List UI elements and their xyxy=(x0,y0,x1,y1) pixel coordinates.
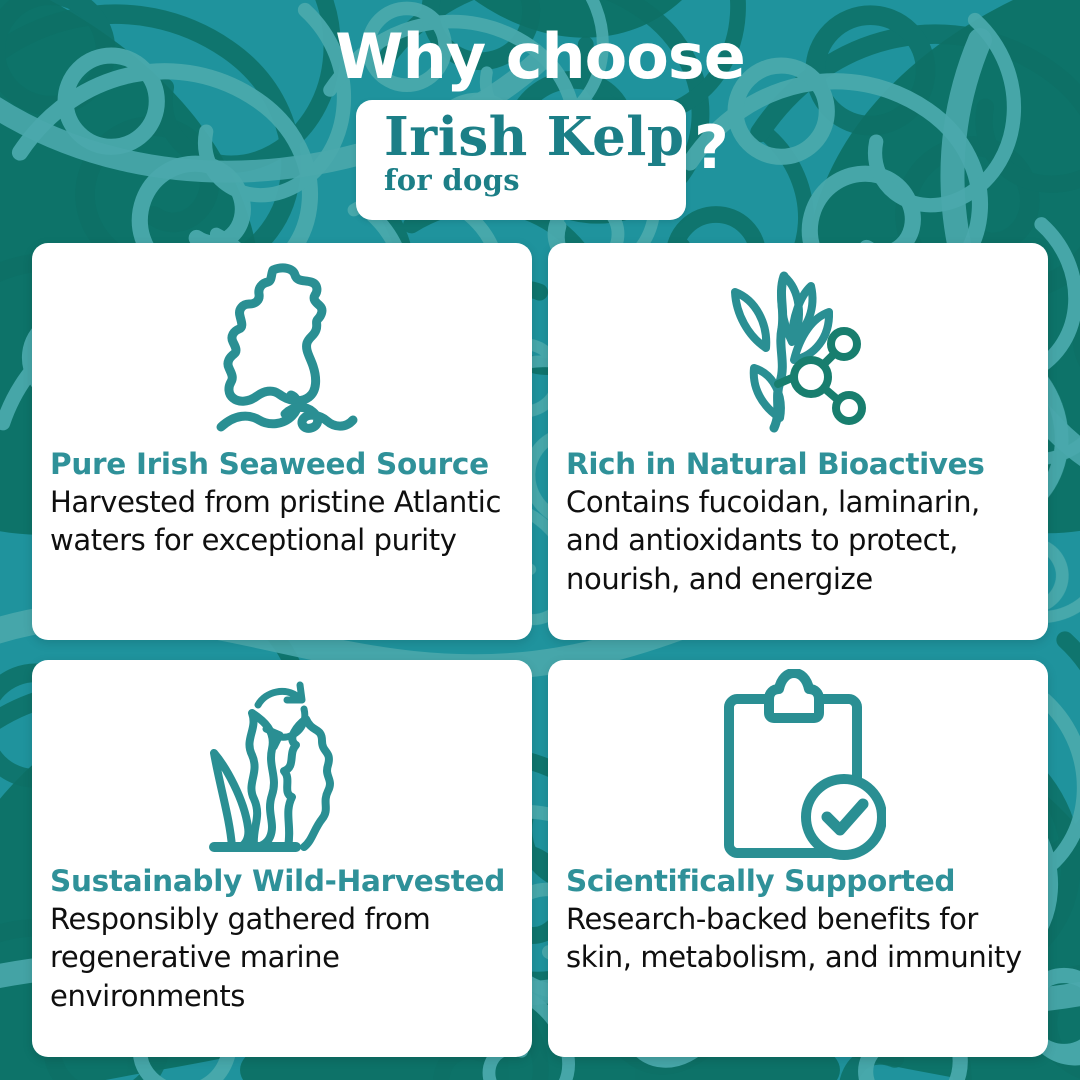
ireland-map-waves-icon xyxy=(32,243,532,448)
brand-name: Irish Kelp xyxy=(384,110,686,164)
card-text: Rich in Natural Bioactives Contains fuco… xyxy=(548,448,1048,598)
benefit-card: Sustainably Wild-Harvested Responsibly g… xyxy=(32,660,532,1057)
question-mark: ? xyxy=(694,118,729,178)
card-title: Sustainably Wild-Harvested xyxy=(50,865,514,898)
brand-subtitle: for dogs xyxy=(384,165,686,197)
card-title: Scientifically Supported xyxy=(566,865,1030,898)
card-text: Sustainably Wild-Harvested Responsibly g… xyxy=(32,865,532,1015)
benefit-card-grid: Pure Irish Seaweed Source Harvested from… xyxy=(32,243,1048,1057)
header: Why choose Irish Kelp for dogs ? xyxy=(0,0,1080,240)
benefit-card: Pure Irish Seaweed Source Harvested from… xyxy=(32,243,532,640)
card-title: Pure Irish Seaweed Source xyxy=(50,448,514,481)
page-title: Why choose xyxy=(0,26,1080,88)
kelp-recycle-icon xyxy=(32,660,532,865)
card-text: Scientifically Supported Research-backed… xyxy=(548,865,1048,977)
benefit-card: Rich in Natural Bioactives Contains fuco… xyxy=(548,243,1048,640)
card-title: Rich in Natural Bioactives xyxy=(566,448,1030,481)
card-body: Research-backed benefits for skin, metab… xyxy=(566,900,1030,977)
seaweed-molecule-icon xyxy=(548,243,1048,448)
card-body: Responsibly gathered from regenerative m… xyxy=(50,900,514,1015)
card-body: Contains fucoidan, laminarin, and antiox… xyxy=(566,483,1030,598)
clipboard-check-icon xyxy=(548,660,1048,865)
benefit-card: Scientifically Supported Research-backed… xyxy=(548,660,1048,1057)
brand-badge: Irish Kelp for dogs xyxy=(356,100,686,220)
card-text: Pure Irish Seaweed Source Harvested from… xyxy=(32,448,532,560)
card-body: Harvested from pristine Atlantic waters … xyxy=(50,483,514,560)
